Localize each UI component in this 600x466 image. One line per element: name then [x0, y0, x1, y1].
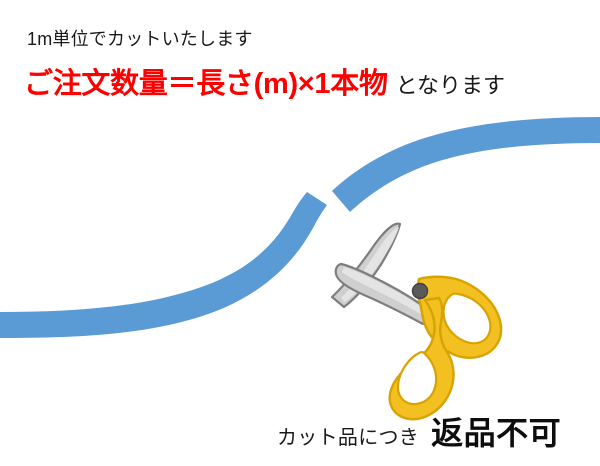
order-quantity-formula: ご注文数量＝長さ(m)×1本物となります	[24, 70, 505, 99]
no-return-notice: カット品につき返品不可	[277, 417, 561, 449]
order-quantity-formula-emphasis: ご注文数量＝長さ(m)×1本物	[24, 68, 388, 100]
scissors-pivot-screw	[413, 284, 428, 299]
no-return-notice-prefix: カット品につき	[277, 427, 419, 449]
blue-band-left-segment	[0, 192, 327, 338]
blue-band-right-segment	[332, 117, 600, 212]
no-return-notice-emphasis: 返品不可	[419, 415, 561, 451]
scissors	[332, 224, 501, 420]
notice-graphic: 1m単位でカットいたします ご注文数量＝長さ(m)×1本物となります カット品に…	[0, 0, 600, 466]
cut-unit-note: 1m単位でカットいたします	[27, 30, 253, 48]
order-quantity-formula-suffix: となります	[388, 73, 505, 98]
